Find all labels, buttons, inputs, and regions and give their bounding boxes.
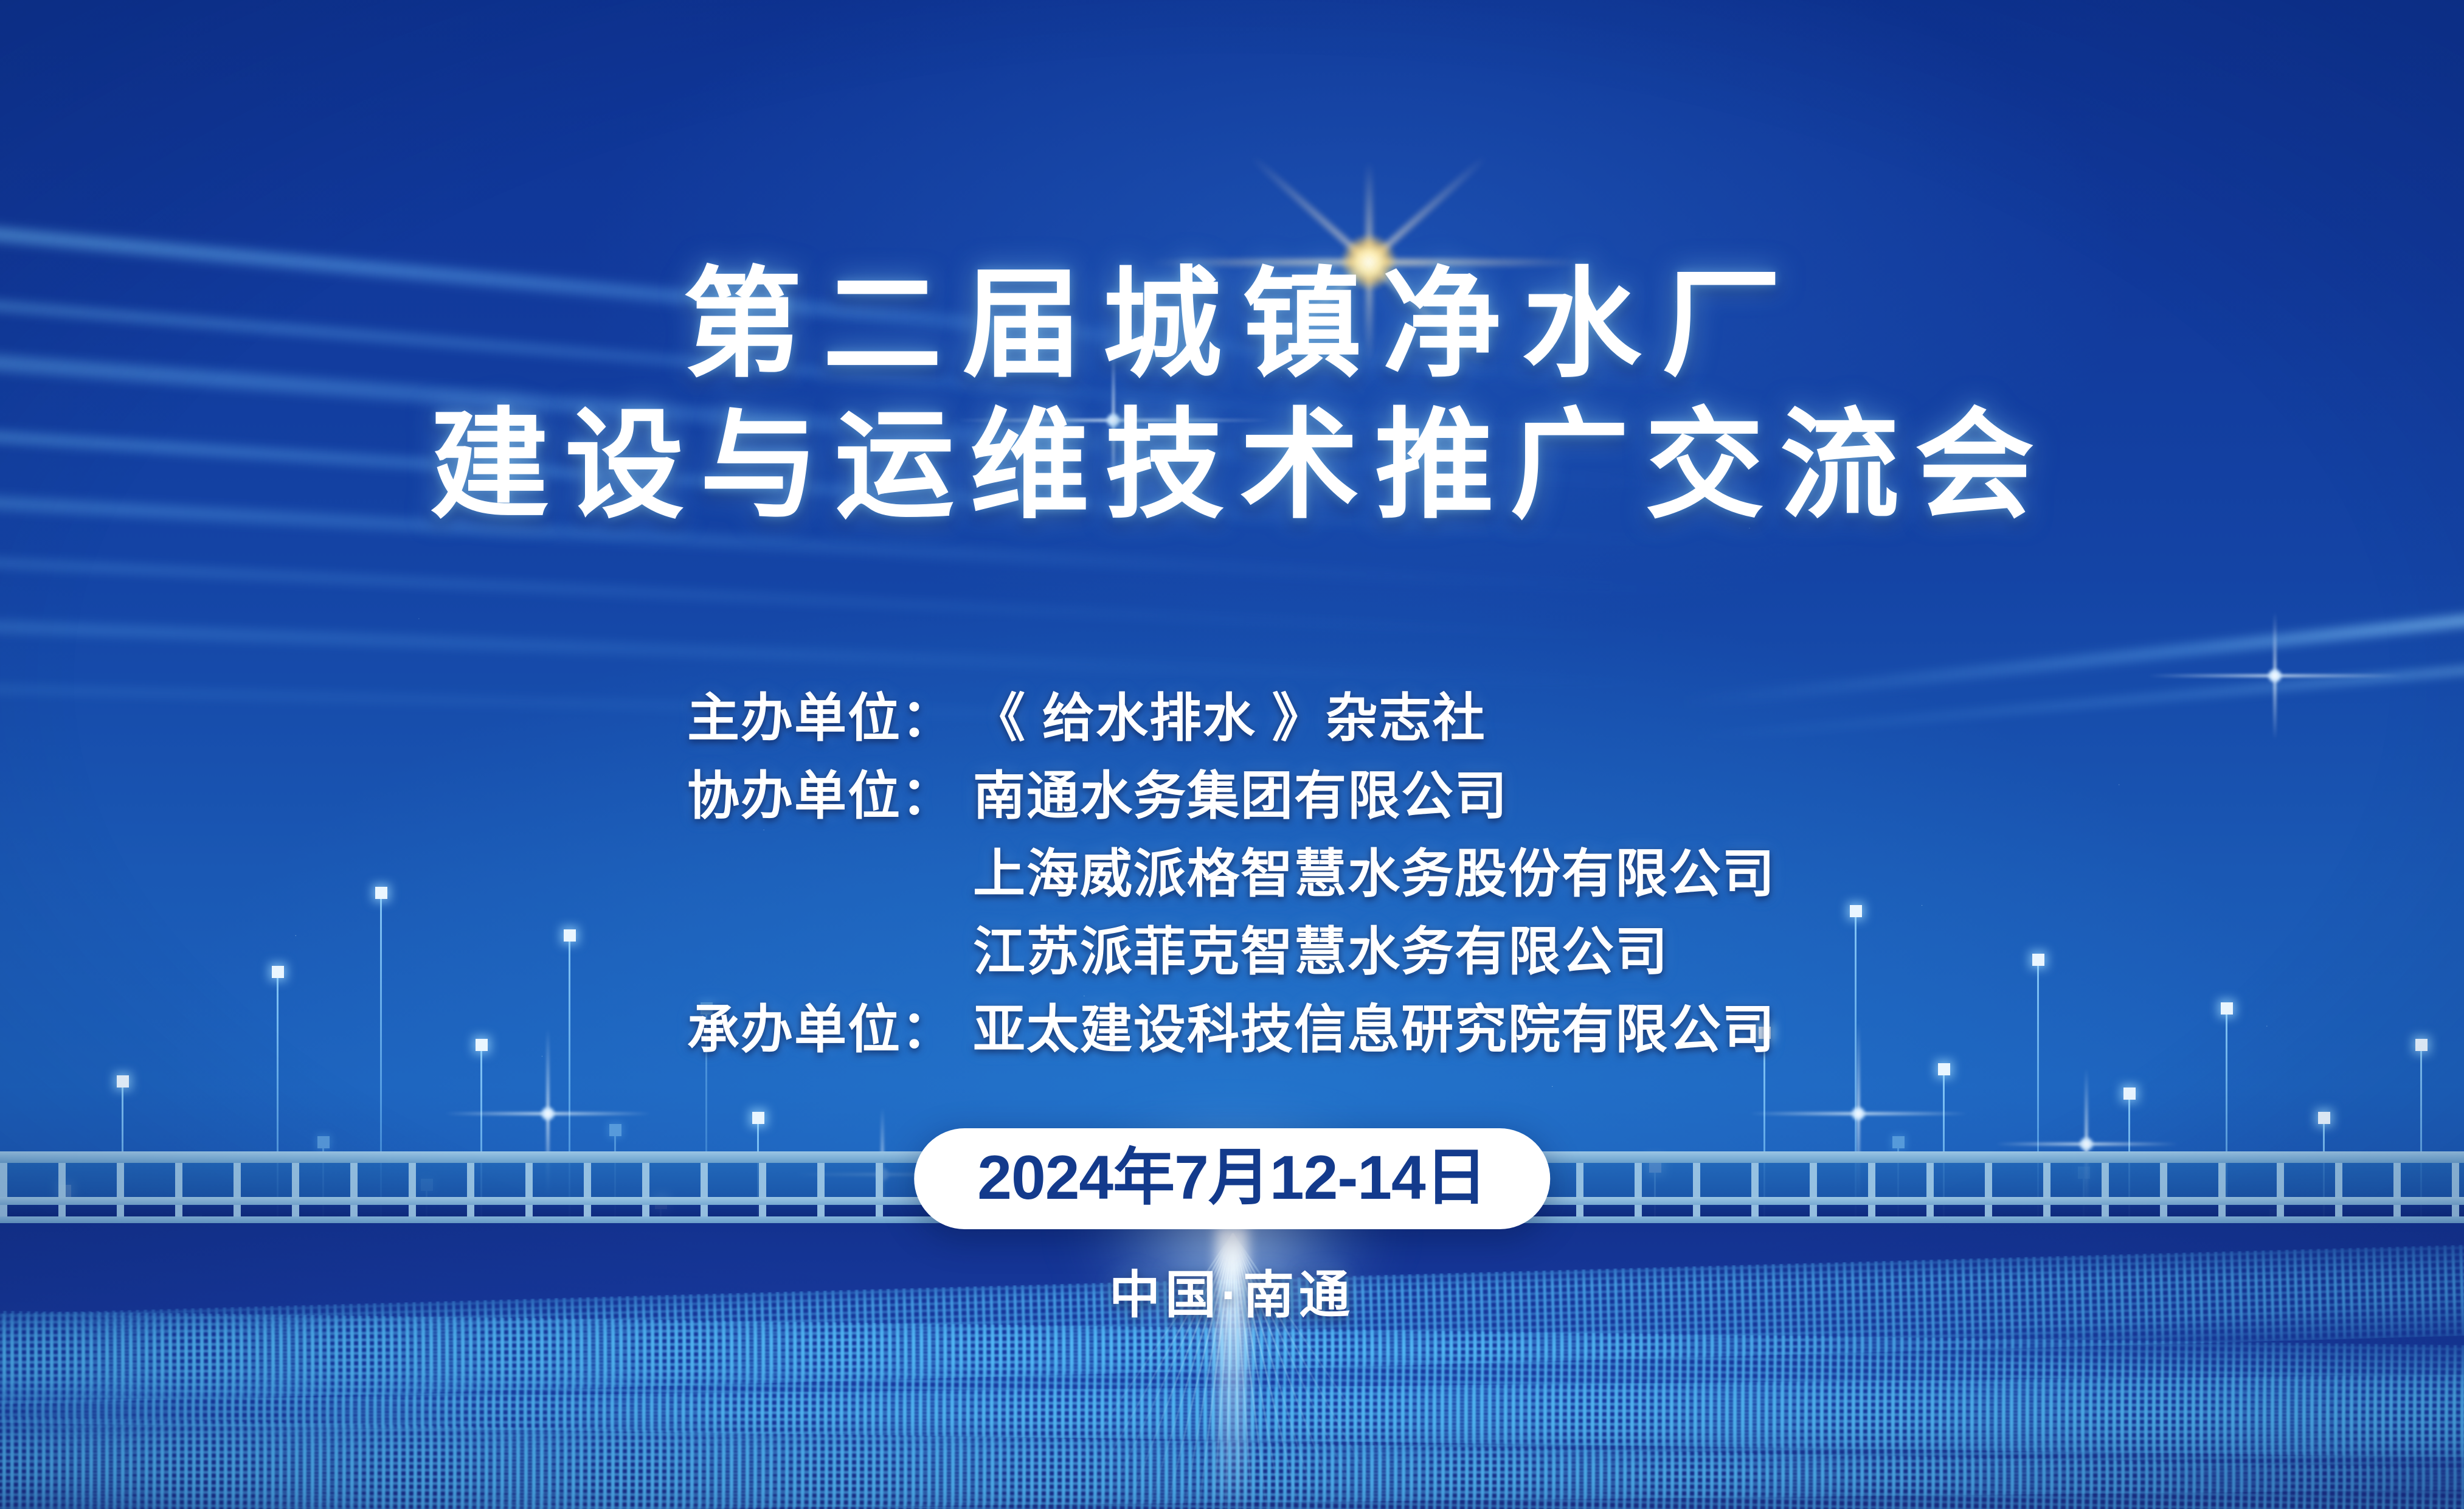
title-line-1: 第二届城镇净水厂: [0, 262, 2464, 388]
organizer-row: 承办单位： 亚太建设科技信息研究院有限公司: [687, 987, 1776, 1064]
poster-title: 第二届城镇净水厂 建设与运维技术推广交流会: [0, 262, 2464, 529]
organizer-label: 主办单位：: [687, 675, 973, 751]
organizer-value: 江苏派菲克智慧水务有限公司: [973, 909, 1669, 985]
organizer-list: 主办单位： 《 给水排水 》杂志社 协办单位： 南通水务集团有限公司 上海威派格…: [687, 675, 1776, 1064]
organizer-label: 协办单位：: [687, 753, 973, 829]
organizer-value: 南通水务集团有限公司: [973, 753, 1508, 829]
city-label: 中国·南通: [1109, 1254, 1355, 1328]
date-badge: 2024年7月12-14日: [914, 1128, 1550, 1229]
conference-poster: 第二届城镇净水厂 建设与运维技术推广交流会 主办单位： 《 给水排水 》杂志社 …: [0, 0, 2464, 1509]
title-line-2: 建设与运维技术推广交流会: [0, 403, 2464, 529]
organizer-row: 江苏派菲克智慧水务有限公司: [687, 909, 1776, 987]
sparkle-icon: [547, 1113, 548, 1114]
sparkle-icon: [1858, 1113, 1858, 1114]
date-text: 2024年7月12-14日: [977, 1146, 1487, 1209]
organizer-value: 亚太建设科技信息研究院有限公司: [973, 987, 1776, 1063]
organizer-label: 承办单位：: [687, 987, 973, 1063]
organizer-value: 上海威派格智慧水务股份有限公司: [973, 831, 1776, 907]
sparkle-icon: [2274, 675, 2275, 676]
sparkle-icon: [2086, 1143, 2086, 1144]
organizer-row: 主办单位： 《 给水排水 》杂志社: [687, 675, 1776, 753]
organizer-row: 协办单位： 南通水务集团有限公司: [687, 753, 1776, 831]
organizer-row: 上海威派格智慧水务股份有限公司: [687, 831, 1776, 909]
organizer-value: 《 给水排水 》杂志社: [973, 675, 1486, 751]
